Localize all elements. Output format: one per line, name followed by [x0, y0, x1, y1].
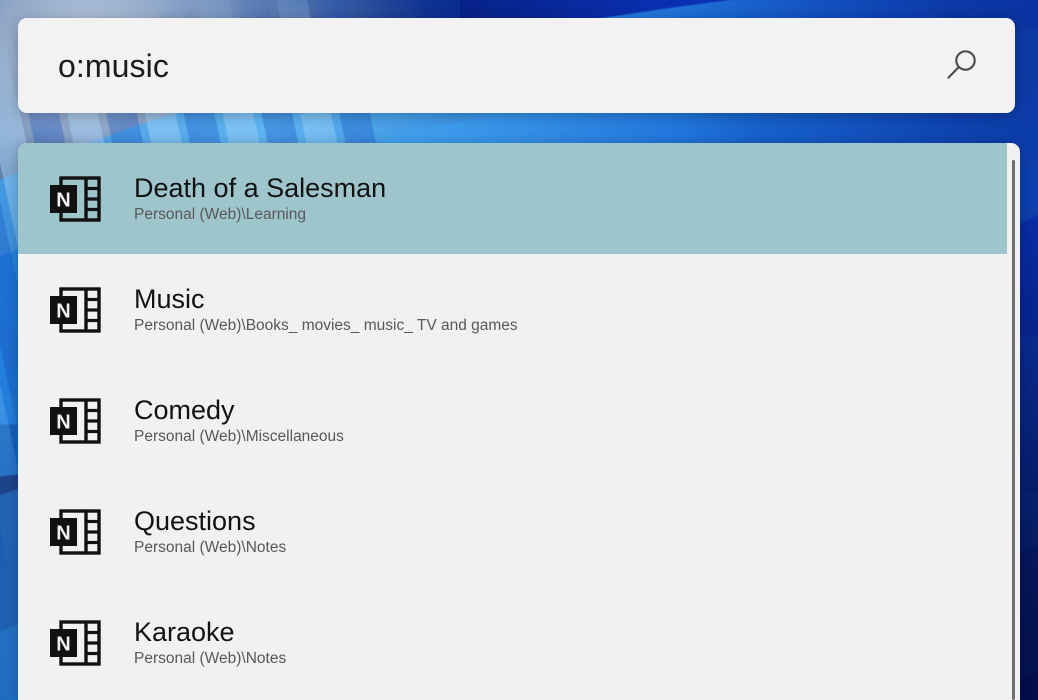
svg-text:N: N — [56, 411, 70, 433]
list-item-text: Comedy Personal (Web)\Miscellaneous — [110, 395, 1007, 447]
onenote-icon: N — [40, 619, 110, 667]
onenote-icon: N — [40, 286, 110, 334]
list-item[interactable]: N Karaoke Personal (Web)\Notes — [18, 587, 1007, 698]
list-item-title: Karaoke — [134, 617, 1007, 647]
list-item-title: Questions — [134, 506, 1007, 536]
list-item-subtitle: Personal (Web)\Books_ movies_ music_ TV … — [134, 317, 1007, 336]
list-item-title: Death of a Salesman — [134, 173, 1007, 203]
onenote-icon: N — [40, 175, 110, 223]
search-icon[interactable] — [933, 38, 989, 94]
onenote-icon: N — [40, 397, 110, 445]
list-item-text: Karaoke Personal (Web)\Notes — [110, 617, 1007, 669]
list-item-text: Questions Personal (Web)\Notes — [110, 506, 1007, 558]
svg-text:N: N — [56, 633, 70, 655]
list-item-subtitle: Personal (Web)\Notes — [134, 539, 1007, 558]
list-item[interactable]: N Music Personal (Web)\Books_ movies_ mu… — [18, 254, 1007, 365]
list-item-text: Music Personal (Web)\Books_ movies_ musi… — [110, 284, 1007, 336]
svg-text:N: N — [56, 522, 70, 544]
svg-text:N: N — [56, 300, 70, 322]
list-item[interactable]: N Questions Personal (Web)\Notes — [18, 476, 1007, 587]
list-item-title: Music — [134, 284, 1007, 314]
desktop-wallpaper: o:music N — [0, 0, 1038, 700]
search-bar[interactable]: o:music — [18, 18, 1015, 113]
list-item[interactable]: N Death of a Salesman Personal (Web)\Lea… — [18, 143, 1007, 254]
search-results-list: N Death of a Salesman Personal (Web)\Lea… — [18, 143, 1007, 700]
onenote-icon: N — [40, 508, 110, 556]
scrollbar-thumb[interactable] — [1012, 160, 1015, 700]
svg-text:N: N — [56, 189, 70, 211]
list-item-subtitle: Personal (Web)\Learning — [134, 206, 1007, 225]
search-input[interactable]: o:music — [58, 50, 933, 82]
list-item-subtitle: Personal (Web)\Notes — [134, 650, 1007, 669]
list-item-title: Comedy — [134, 395, 1007, 425]
list-item-text: Death of a Salesman Personal (Web)\Learn… — [110, 173, 1007, 225]
list-item[interactable]: N Comedy Personal (Web)\Miscellaneous — [18, 365, 1007, 476]
list-item-subtitle: Personal (Web)\Miscellaneous — [134, 428, 1007, 447]
search-results-panel: N Death of a Salesman Personal (Web)\Lea… — [18, 143, 1020, 700]
vertical-scrollbar[interactable] — [1007, 143, 1020, 700]
